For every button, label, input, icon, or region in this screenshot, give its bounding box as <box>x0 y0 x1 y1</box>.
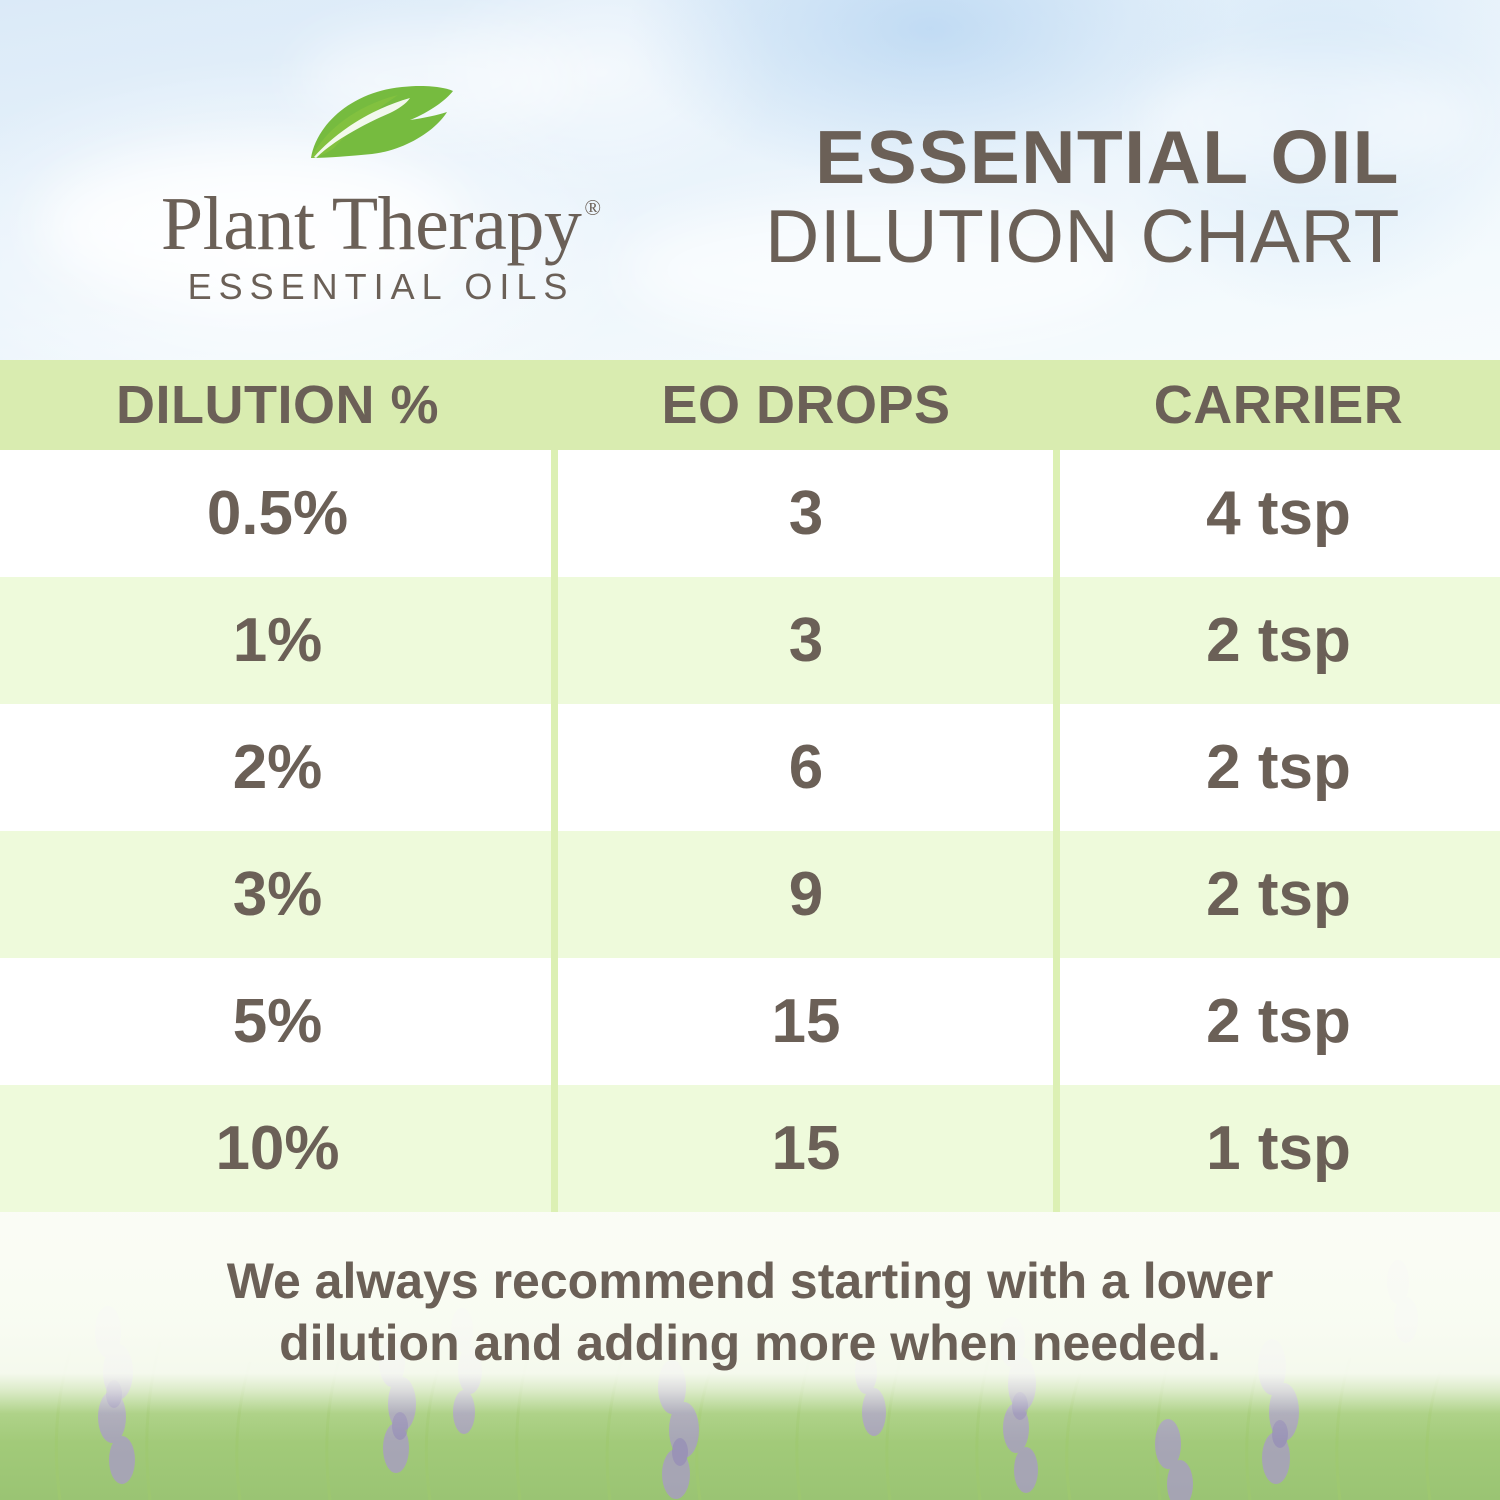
title-line-2: DILUTION CHART <box>720 196 1400 276</box>
cell-eo-drops: 15 <box>555 1113 1057 1184</box>
table-row: 2% 6 2 tsp <box>0 704 1500 831</box>
cell-eo-drops: 6 <box>555 732 1057 803</box>
table-row: 5% 15 2 tsp <box>0 958 1500 1085</box>
brand-logo: Plant Therapy® ESSENTIAL OILS <box>96 82 666 282</box>
table-row: 3% 9 2 tsp <box>0 831 1500 958</box>
table-row: 10% 15 1 tsp <box>0 1085 1500 1212</box>
cell-eo-drops: 9 <box>555 859 1057 930</box>
cell-eo-drops: 3 <box>555 478 1057 549</box>
leaf-icon <box>306 82 456 162</box>
footer-note: We always recommend starting with a lowe… <box>0 1250 1500 1374</box>
title-line-1: ESSENTIAL OIL <box>720 118 1400 196</box>
footer-note-line-2: dilution and adding more when needed. <box>0 1312 1500 1374</box>
cell-eo-drops: 3 <box>555 605 1057 676</box>
brand-name: Plant Therapy® <box>161 164 601 268</box>
column-header-eo-drops: EO DROPS <box>555 374 1057 436</box>
registered-mark: ® <box>584 195 601 220</box>
footer-section: We always recommend starting with a lowe… <box>0 1212 1500 1500</box>
cell-dilution: 2% <box>0 732 555 803</box>
cell-dilution: 5% <box>0 986 555 1057</box>
cell-carrier: 4 tsp <box>1057 478 1500 549</box>
dilution-table: DILUTION % EO DROPS CARRIER 0.5% 3 4 tsp… <box>0 360 1500 1212</box>
table-row: 1% 3 2 tsp <box>0 577 1500 704</box>
cell-carrier: 2 tsp <box>1057 986 1500 1057</box>
brand-name-text: Plant Therapy <box>161 182 582 266</box>
brand-tagline: ESSENTIAL OILS <box>96 266 666 308</box>
cell-carrier: 2 tsp <box>1057 732 1500 803</box>
column-header-dilution: DILUTION % <box>0 374 555 436</box>
cell-carrier: 2 tsp <box>1057 605 1500 676</box>
footer-note-line-1: We always recommend starting with a lowe… <box>0 1250 1500 1312</box>
cell-eo-drops: 15 <box>555 986 1057 1057</box>
table-row: 0.5% 3 4 tsp <box>0 450 1500 577</box>
page-title: ESSENTIAL OIL DILUTION CHART <box>720 118 1400 276</box>
cell-dilution: 10% <box>0 1113 555 1184</box>
cell-dilution: 3% <box>0 859 555 930</box>
cell-dilution: 1% <box>0 605 555 676</box>
cell-dilution: 0.5% <box>0 478 555 549</box>
dilution-chart-infographic: Plant Therapy® ESSENTIAL OILS ESSENTIAL … <box>0 0 1500 1500</box>
table-header-row: DILUTION % EO DROPS CARRIER <box>0 360 1500 450</box>
cell-carrier: 1 tsp <box>1057 1113 1500 1184</box>
cell-carrier: 2 tsp <box>1057 859 1500 930</box>
column-header-carrier: CARRIER <box>1057 374 1500 436</box>
